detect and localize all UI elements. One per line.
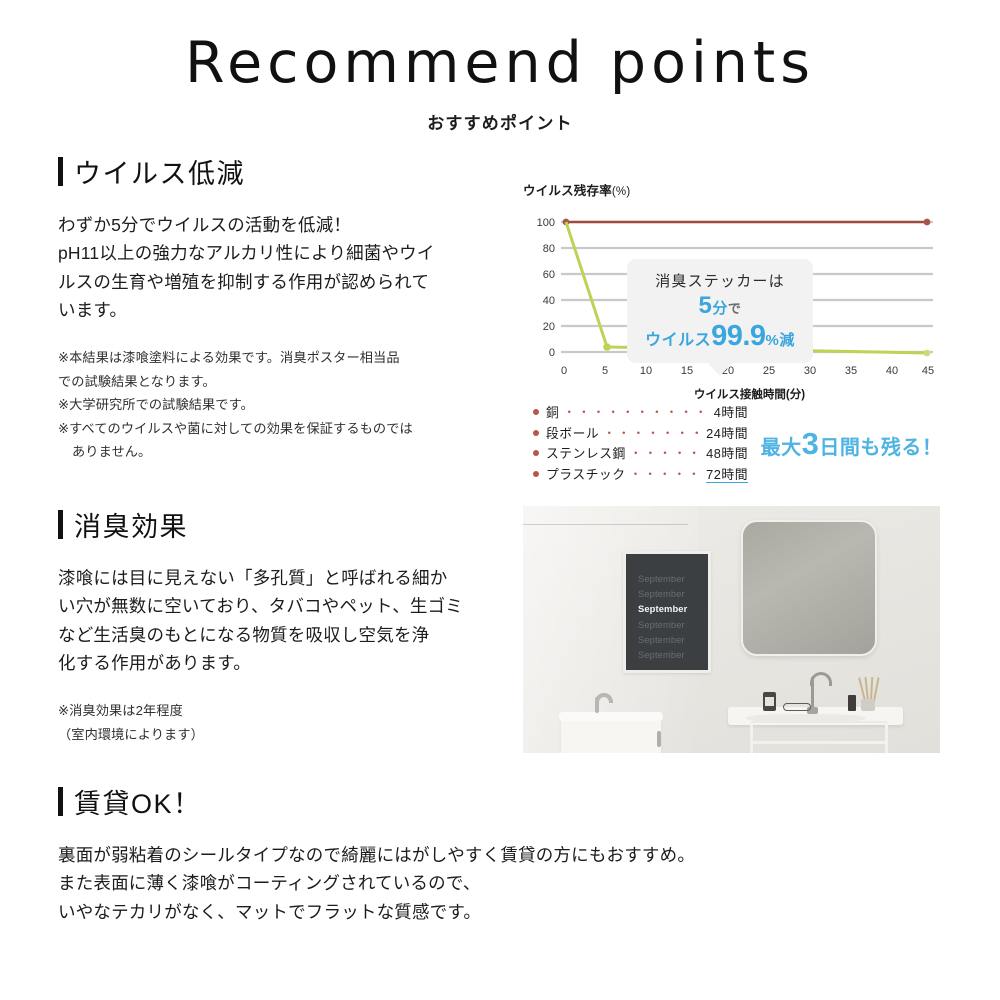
section-virus-reduction: ウイルス低減 わずか5分でウイルスの活動を低減！ pH11以上の強力なアルカリ性… — [58, 152, 513, 464]
legend-leader-dots: ・・・・・ — [630, 465, 703, 484]
photo-tank-faucet — [595, 697, 599, 713]
callout-line-3: ウイルス99.9%減 — [635, 321, 805, 351]
legend-value: 48時間 — [706, 444, 748, 465]
svg-text:35: 35 — [845, 365, 857, 377]
body-line: また表面に薄く漆喰がコーティングされているので、 — [58, 869, 938, 897]
section-title: 消臭効果 — [74, 505, 188, 544]
page-subtitle: おすすめポイント — [0, 109, 1000, 134]
bullet-dot-icon — [533, 430, 539, 436]
chart-y-axis-title: ウイルス残存率 — [523, 184, 612, 198]
callout-line-2: 5分で — [635, 294, 805, 319]
photo-flush-handle — [657, 731, 661, 747]
note-line: ※すべてのウイルスや菌に対しての効果を保証するものでは — [58, 417, 513, 441]
note-line: ※消臭効果は2年程度 — [58, 699, 520, 723]
svg-text:25: 25 — [763, 365, 775, 377]
section-rental-ok: 賃貸OK！ 裏面が弱粘着のシールタイプなので綺麗にはがしやすく賃貸の方にもおすす… — [58, 782, 938, 926]
legend-leader-dots: ・・・・・・・・・・・ — [563, 403, 709, 422]
legend-row: プラスチック ・・・・・ 72時間 — [533, 465, 748, 486]
photo-perfume-bottle — [848, 695, 856, 711]
section-body: 漆喰には目に見えない「多孔質」と呼ばれる細か い穴が無数に空いており、タバコやペ… — [58, 564, 520, 677]
section-title: 賃貸OK！ — [74, 782, 202, 821]
photo-amber-bottle — [763, 692, 776, 711]
callout-reduction-value: 99.9 — [711, 320, 765, 352]
max-duration-highlight: 最大3日間も残る！ — [748, 426, 943, 462]
svg-text:30: 30 — [804, 365, 816, 377]
chart-y-axis-unit: (%) — [612, 186, 631, 198]
body-line: いやなテカリがなく、マットでフラットな質感です。 — [58, 898, 938, 926]
body-line: pH11以上の強力なアルカリ性により細菌やウイ — [58, 239, 513, 267]
section-notes: ※消臭効果は2年程度 （室内環境によります） — [58, 699, 520, 746]
section-notes: ※本結果は漆喰塗料による効果です。消臭ポスター相当品 での試験結果となります。 … — [58, 346, 513, 464]
legend-value: 72時間 — [706, 465, 748, 486]
section-deodorizing-effect: 消臭効果 漆喰には目に見えない「多孔質」と呼ばれる細か い穴が無数に空いており、… — [58, 505, 520, 746]
svg-text:80: 80 — [543, 243, 555, 255]
surface-survival-legend: 銅 ・・・・・・・・・・・ 4時間 段ボール ・・・・・・・・ 24時間 ステン… — [533, 403, 943, 486]
body-line: 化する作用があります。 — [58, 649, 520, 677]
svg-text:10: 10 — [640, 365, 652, 377]
section-body: 裏面が弱粘着のシールタイプなので綺麗にはがしやすく賃貸の方にもおすすめ。 また表… — [58, 841, 938, 926]
svg-text:5: 5 — [602, 365, 608, 377]
svg-text:0: 0 — [549, 347, 555, 359]
section-title: ウイルス低減 — [74, 152, 245, 191]
callout-particle: で — [728, 301, 742, 316]
note-line: ※本結果は漆喰塗料による効果です。消臭ポスター相当品 — [58, 346, 513, 370]
svg-text:20: 20 — [543, 321, 555, 333]
svg-text:15: 15 — [681, 365, 693, 377]
photo-vanity — [728, 691, 903, 753]
bullet-dot-icon — [533, 409, 539, 415]
photo-poster-frame: September September September September … — [623, 551, 711, 673]
page-title: Recommend points — [0, 34, 1000, 94]
photo-diffuser — [861, 699, 875, 711]
poster-line: September — [638, 632, 708, 647]
legend-label: プラスチック — [546, 465, 626, 486]
body-line: 裏面が弱粘着のシールタイプなので綺麗にはがしやすく賃貸の方にもおすすめ。 — [58, 841, 938, 869]
note-line: （室内環境によります） — [58, 723, 520, 747]
chart-y-ticks: 100 80 60 40 20 0 — [537, 217, 555, 359]
photo-reed-sticks — [862, 677, 876, 701]
poster-line: September — [638, 586, 708, 601]
body-line: い穴が無数に空いており、タバコやペット、生ゴミ — [58, 592, 520, 620]
legend-row: 銅 ・・・・・・・・・・・ 4時間 — [533, 403, 748, 424]
callout-reduction-word: 減 — [779, 332, 795, 349]
poster-line-active: September — [638, 601, 708, 616]
legend-row: 段ボール ・・・・・・・・ 24時間 — [533, 424, 748, 445]
legend-label: 段ボール — [546, 424, 599, 445]
chart-series-control — [563, 219, 931, 226]
svg-text:100: 100 — [537, 217, 555, 229]
bathroom-interior-photo: September September September September … — [523, 506, 940, 753]
body-line: います。 — [58, 296, 513, 324]
photo-vanity-frame — [750, 721, 888, 753]
chart-x-axis-label: ウイルス接触時間(分) — [523, 386, 938, 402]
chart-y-axis-label: ウイルス残存率(%) — [523, 180, 938, 199]
callout-line-1: 消臭ステッカーは — [635, 270, 805, 291]
heading-accent-bar — [58, 510, 63, 539]
legend-value: 24時間 — [706, 424, 748, 445]
photo-eyeglasses — [783, 703, 811, 711]
svg-text:0: 0 — [561, 365, 567, 377]
photo-toilet-tank-lid — [559, 712, 663, 721]
note-line: ありません。 — [58, 440, 513, 464]
chart-x-ticks: 0 5 10 15 20 25 30 35 40 45 — [561, 365, 934, 377]
body-line: わずか5分でウイルスの活動を低減！ — [58, 211, 513, 239]
page-header: Recommend points おすすめポイント — [0, 0, 1000, 134]
body-line: ルスの生育や増殖を抑制する作用が認められて — [58, 268, 513, 296]
section-body: わずか5分でウイルスの活動を低減！ pH11以上の強力なアルカリ性により細菌やウ… — [58, 211, 513, 324]
bullet-dot-icon — [533, 471, 539, 477]
svg-text:40: 40 — [886, 365, 898, 377]
section-heading-rental-ok: 賃貸OK！ — [58, 782, 938, 821]
heading-accent-bar — [58, 157, 63, 186]
note-line: での試験結果となります。 — [58, 370, 513, 394]
callout-percent-sign: % — [766, 332, 780, 349]
highlight-days-value: 3 — [802, 426, 820, 461]
callout-minutes-value: 5 — [699, 292, 713, 319]
callout-virus-word: ウイルス — [645, 332, 711, 349]
legend-row: ステンレス鋼 ・・・・・ 48時間 — [533, 444, 748, 465]
body-line: 漆喰には目に見えない「多孔質」と呼ばれる細か — [58, 564, 520, 592]
highlight-prefix: 最大 — [761, 437, 802, 459]
section-heading-virus-reduction: ウイルス低減 — [58, 152, 513, 191]
legend-label: 銅 — [546, 403, 559, 424]
poster-line: September — [638, 617, 708, 632]
callout-minutes-unit: 分 — [712, 300, 728, 317]
highlight-suffix: 日間も残る！ — [819, 437, 942, 459]
photo-wall-seam — [523, 524, 688, 525]
poster-line: September — [638, 647, 708, 662]
legend-value: 4時間 — [714, 403, 748, 424]
photo-mirror — [741, 520, 877, 656]
bullet-dot-icon — [533, 450, 539, 456]
svg-text:40: 40 — [543, 295, 555, 307]
svg-text:60: 60 — [543, 269, 555, 281]
body-line: など生活臭のもとになる物質を吸収し空気を浄 — [58, 621, 520, 649]
photo-faucet — [811, 677, 814, 709]
legend-list: 銅 ・・・・・・・・・・・ 4時間 段ボール ・・・・・・・・ 24時間 ステン… — [533, 403, 748, 486]
svg-text:45: 45 — [922, 365, 934, 377]
poster-line: September — [638, 571, 708, 586]
virus-survival-chart: ウイルス残存率(%) 100 80 60 40 20 0 — [523, 180, 938, 390]
legend-leader-dots: ・・・・・・・・ — [603, 424, 702, 443]
heading-accent-bar — [58, 787, 63, 816]
chart-callout-bubble: 消臭ステッカーは 5分で ウイルス99.9%減 — [627, 259, 813, 363]
legend-label: ステンレス鋼 — [546, 444, 626, 465]
section-heading-deodorizing: 消臭効果 — [58, 505, 520, 544]
chart-plot-area: 100 80 60 40 20 0 0 5 10 15 20 25 30 35 … — [523, 208, 938, 385]
legend-leader-dots: ・・・・・ — [630, 444, 702, 463]
photo-poster: September September September September … — [626, 554, 708, 670]
note-line: ※大学研究所での試験結果です。 — [58, 393, 513, 417]
